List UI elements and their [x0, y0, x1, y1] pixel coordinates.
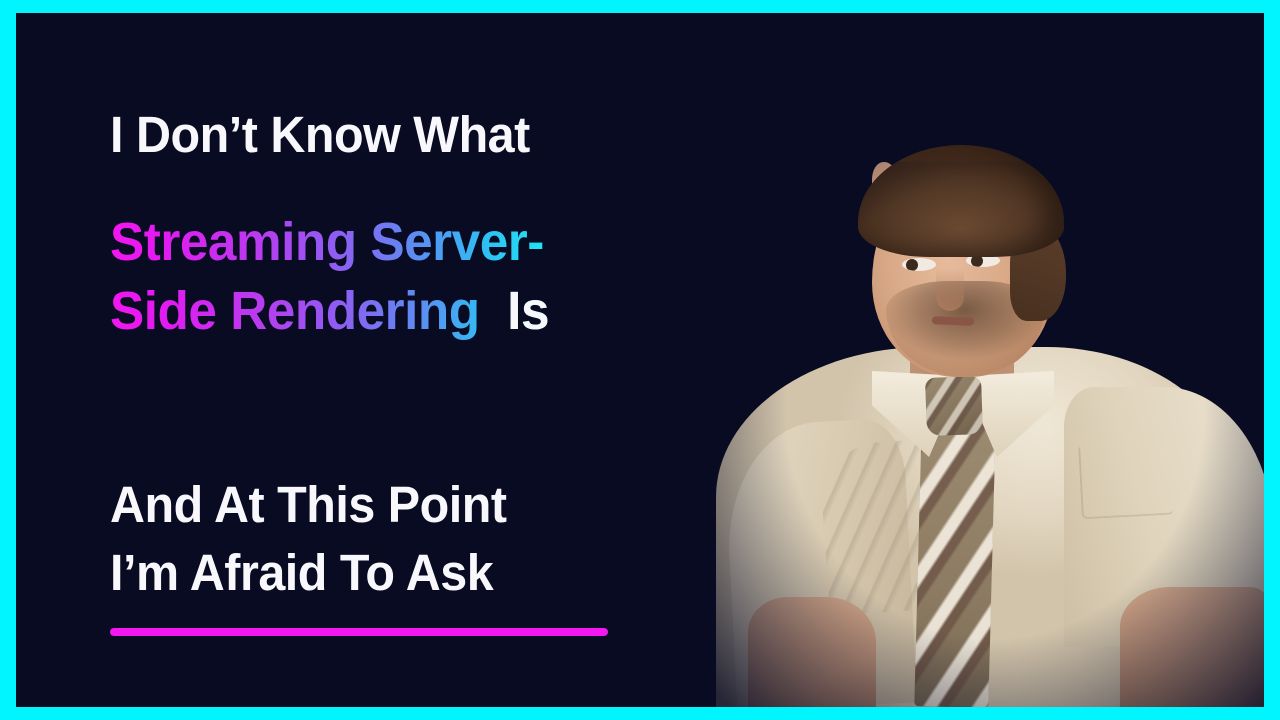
headline-block: I Don’t Know What Streaming Server- Side…: [110, 13, 730, 707]
headline-topic-line-2-text: Side Rendering: [110, 281, 480, 341]
necktie: [914, 421, 995, 707]
necktie-knot: [925, 376, 983, 436]
headline-line-4: And At This Point: [110, 479, 507, 530]
pupil-left: [906, 259, 918, 271]
accent-underline-bar: [110, 628, 608, 636]
shirt-pocket: [1078, 443, 1174, 520]
eye-left: [902, 258, 936, 271]
headline-line-5: I’m Afraid To Ask: [110, 547, 493, 598]
person-photo: [704, 162, 1264, 707]
hair: [858, 145, 1064, 257]
nose: [936, 269, 964, 311]
right-arm: [1120, 587, 1264, 707]
thumbnail-stage: I Don’t Know What Streaming Server- Side…: [16, 13, 1264, 707]
left-arm: [748, 597, 876, 707]
headline-topic-line-1: Streaming Server-: [110, 208, 544, 277]
headline-topic: Streaming Server- Side Rendering Is: [110, 208, 680, 345]
mouth: [932, 316, 974, 325]
video-thumbnail: I Don’t Know What Streaming Server- Side…: [0, 0, 1280, 720]
headline-topic-tail: Is: [480, 281, 549, 341]
headline-topic-tail-text: Is: [507, 281, 549, 341]
headline-line-1: I Don’t Know What: [110, 109, 530, 160]
headline-topic-line-2: Side Rendering Is: [110, 277, 549, 346]
